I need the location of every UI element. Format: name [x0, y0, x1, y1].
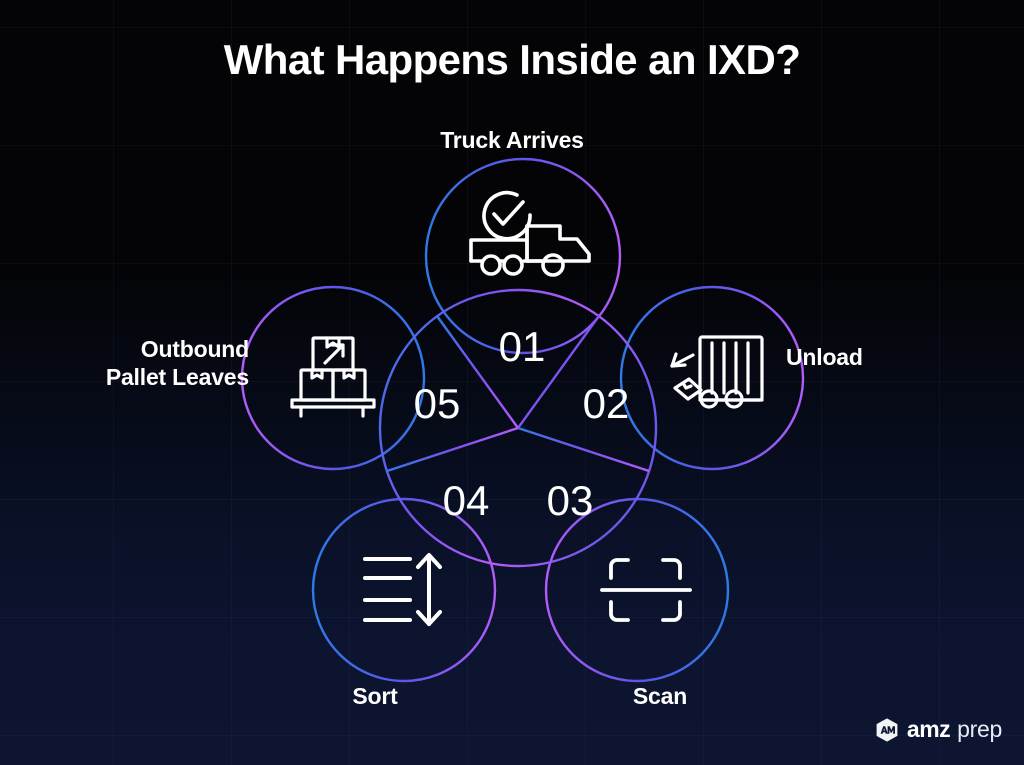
brand-logo[interactable]: amz prep: [874, 716, 1002, 743]
trailer-unload-icon: [672, 337, 762, 407]
petal-label-unload: Unload: [786, 343, 863, 371]
wheel-number-05: 05: [414, 380, 461, 427]
brand-name-amz: amz: [907, 716, 950, 743]
wheel-spoke-4: [387, 428, 518, 471]
brand-name-prep: prep: [957, 716, 1002, 743]
infographic-canvas: What Happens Inside an IXD?: [0, 0, 1024, 765]
brand-logo-text: amz prep: [907, 716, 1002, 743]
petal-circle-sort[interactable]: [313, 499, 495, 681]
petal-label-scan: Scan: [0, 682, 1024, 710]
wheel-number-01: 01: [499, 323, 546, 370]
wheel-spoke-2: [518, 428, 649, 471]
wheel-number-03: 03: [547, 477, 594, 524]
sort-arrows-icon: [365, 555, 440, 624]
petal-label-outbound-line1: Outbound: [141, 336, 249, 362]
amz-cube-icon: [874, 717, 900, 743]
wheel-number-02: 02: [583, 380, 630, 427]
truck-check-icon: [471, 193, 589, 275]
petal-label-truck-arrives: Truck Arrives: [0, 126, 1024, 154]
wheel-number-04: 04: [443, 477, 490, 524]
barcode-scan-icon: [602, 560, 690, 620]
petal-label-outbound-line2: Pallet Leaves: [106, 364, 249, 390]
pallet-outbound-icon: [292, 338, 374, 416]
petal-label-outbound-pallet-leaves: Outbound Pallet Leaves: [9, 335, 249, 391]
